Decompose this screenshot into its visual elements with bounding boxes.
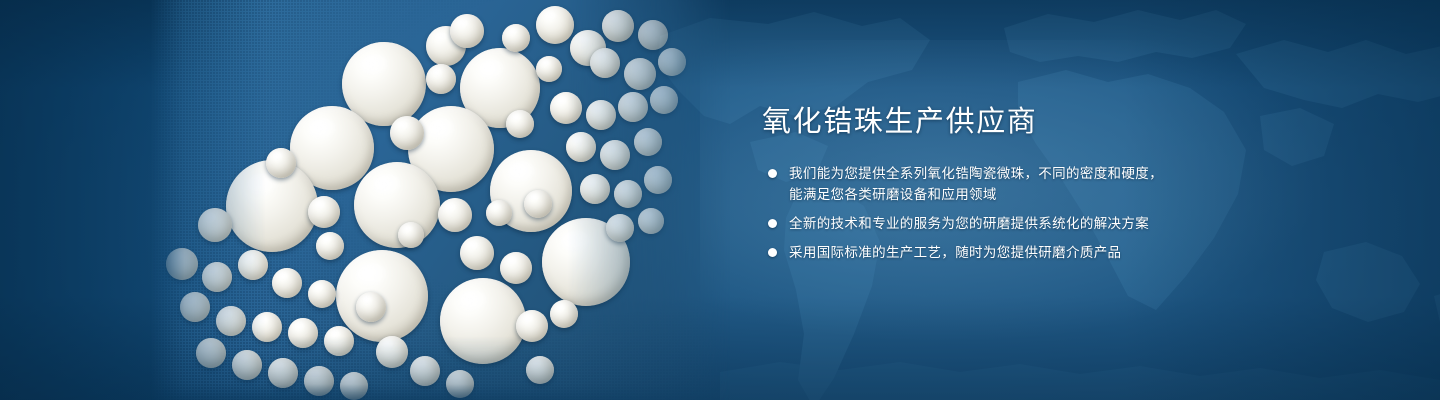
bead <box>566 132 596 162</box>
bead-cluster <box>150 0 730 400</box>
bead <box>526 356 554 384</box>
bullet-dot-icon <box>768 248 777 257</box>
bead <box>634 128 662 156</box>
bead <box>638 208 664 234</box>
bead <box>618 92 648 122</box>
bead <box>198 208 232 242</box>
feature-list: 我们能为您提供全系列氧化锆陶瓷微珠，不同的密度和硬度， 能满足您各类研磨设备和应… <box>762 163 1322 263</box>
bead <box>536 6 574 44</box>
bead <box>390 116 424 150</box>
bead <box>166 248 198 280</box>
bead <box>398 222 424 248</box>
bead <box>216 306 246 336</box>
bullet-dot-icon <box>768 169 777 178</box>
bead <box>450 14 484 48</box>
bead <box>410 356 440 386</box>
bead <box>440 278 526 364</box>
bead <box>536 56 562 82</box>
bead <box>644 166 672 194</box>
bead <box>354 162 440 248</box>
list-item-line1: 采用国际标准的生产工艺，随时为您提供研磨介质产品 <box>789 245 1121 260</box>
bead <box>600 140 630 170</box>
product-photo-zirconia-beads <box>150 0 730 400</box>
bead <box>308 280 336 308</box>
bead <box>438 198 472 232</box>
bead <box>324 326 354 356</box>
bead <box>624 58 656 90</box>
list-item: 全新的技术和专业的服务为您的研磨提供系统化的解决方案 <box>762 213 1322 234</box>
bead <box>524 190 552 218</box>
list-item-line1: 全新的技术和专业的服务为您的研磨提供系统化的解决方案 <box>789 216 1149 231</box>
list-item-line2: 能满足您各类研磨设备和应用领域 <box>789 184 1322 205</box>
bead <box>266 148 296 178</box>
hero-banner: 氧化锆珠生产供应商 我们能为您提供全系列氧化锆陶瓷微珠，不同的密度和硬度， 能满… <box>0 0 1440 400</box>
bead <box>460 236 494 270</box>
bead <box>602 10 634 42</box>
bead <box>580 174 610 204</box>
list-item: 采用国际标准的生产工艺，随时为您提供研磨介质产品 <box>762 242 1322 263</box>
bead <box>550 92 582 124</box>
bead <box>506 110 534 138</box>
bullet-dot-icon <box>768 219 777 228</box>
bead <box>446 370 474 398</box>
bead <box>426 64 456 94</box>
bead <box>268 358 298 388</box>
bead <box>516 310 548 342</box>
bead <box>304 366 334 396</box>
page-title: 氧化锆珠生产供应商 <box>762 104 1322 141</box>
bead <box>500 252 532 284</box>
bead <box>356 292 386 322</box>
bead <box>288 318 318 348</box>
bead <box>272 268 302 298</box>
bead <box>606 214 634 242</box>
bead <box>202 262 232 292</box>
bead <box>650 86 678 114</box>
banner-text-block: 氧化锆珠生产供应商 我们能为您提供全系列氧化锆陶瓷微珠，不同的密度和硬度， 能满… <box>762 104 1322 263</box>
list-item-line1: 我们能为您提供全系列氧化锆陶瓷微珠，不同的密度和硬度， <box>789 166 1163 181</box>
bead <box>196 338 226 368</box>
bead <box>252 312 282 342</box>
bead <box>316 232 344 260</box>
bead <box>638 20 668 50</box>
bead <box>550 300 578 328</box>
bead <box>614 180 642 208</box>
bead <box>308 196 340 228</box>
bead <box>486 200 512 226</box>
bead <box>658 48 686 76</box>
bead <box>502 24 530 52</box>
bead <box>340 372 368 400</box>
bead <box>238 250 268 280</box>
bead <box>180 292 210 322</box>
bead <box>376 336 408 368</box>
bead <box>232 350 262 380</box>
list-item: 我们能为您提供全系列氧化锆陶瓷微珠，不同的密度和硬度， 能满足您各类研磨设备和应… <box>762 163 1322 205</box>
bead <box>590 48 620 78</box>
bead <box>586 100 616 130</box>
